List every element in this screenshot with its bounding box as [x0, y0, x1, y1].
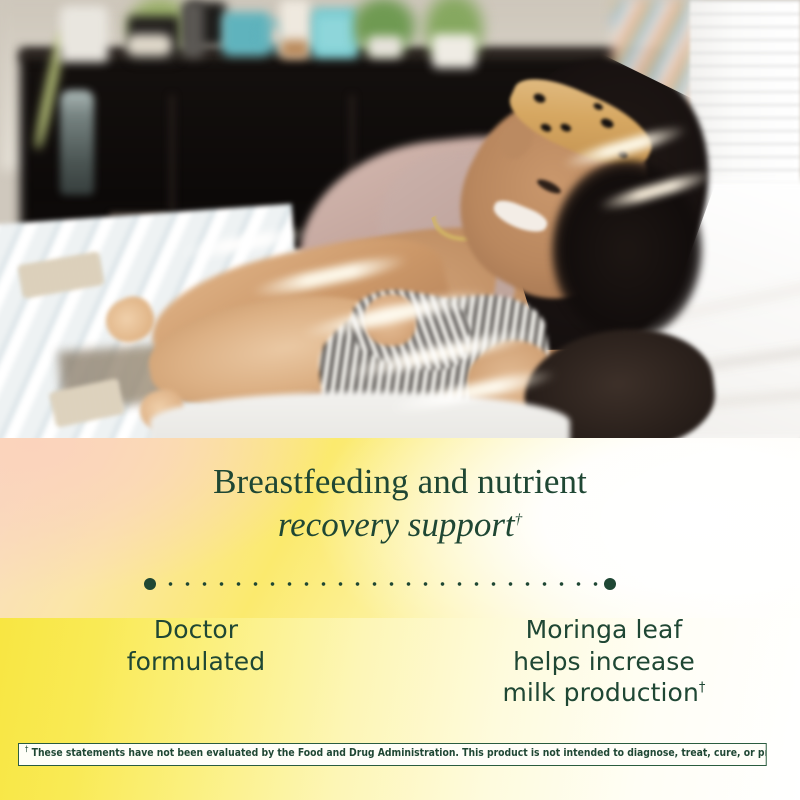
- photo-small-container: [368, 36, 402, 58]
- headline-line-2-text: recovery support: [278, 505, 515, 544]
- feature-line: Moringa leaf: [408, 614, 800, 646]
- feature-line: Doctor: [0, 614, 392, 646]
- photo-cork-lid: [281, 40, 309, 58]
- feature-line: formulated: [0, 646, 392, 678]
- feature-moringa-leaf: Moringa leaf helps increase milk product…: [402, 614, 800, 709]
- photo-water-bottle: [60, 90, 94, 195]
- headline-dagger: †: [515, 511, 523, 527]
- disclaimer-dagger: †: [25, 745, 29, 754]
- photo-cream-can: [126, 34, 172, 56]
- divider-end-dot-left: [144, 578, 156, 590]
- product-ad-card: Breastfeeding and nutrient recovery supp…: [0, 0, 800, 800]
- feature-list: Doctor formulated Moringa leaf helps inc…: [0, 614, 800, 709]
- headline-line-2: recovery support†: [0, 507, 800, 542]
- photo-white-bottle: [60, 6, 108, 62]
- feature-line: helps increase: [408, 646, 800, 678]
- dotted-divider: [144, 577, 616, 591]
- divider-dots: [162, 582, 598, 586]
- lifestyle-photo: [0, 0, 800, 438]
- fda-disclaimer: † These statements have not been evaluat…: [18, 743, 767, 766]
- headline-line-1: Breastfeeding and nutrient: [0, 464, 800, 499]
- photo-teal-glass-inner: [316, 16, 354, 52]
- feature-line-text: milk production: [502, 678, 698, 707]
- feature-line-with-dagger: milk production†: [408, 677, 800, 709]
- headline: Breastfeeding and nutrient recovery supp…: [0, 464, 800, 542]
- feature-dagger: †: [699, 681, 706, 696]
- feature-doctor-formulated: Doctor formulated: [0, 614, 402, 709]
- panel-content: Breastfeeding and nutrient recovery supp…: [0, 438, 800, 800]
- photo-vase: [432, 34, 476, 68]
- photo-tall-bottle: [182, 2, 204, 58]
- divider-end-dot-right: [604, 578, 616, 590]
- disclaimer-text: These statements have not been evaluated…: [32, 747, 767, 759]
- benefits-panel: Breastfeeding and nutrient recovery supp…: [0, 438, 800, 800]
